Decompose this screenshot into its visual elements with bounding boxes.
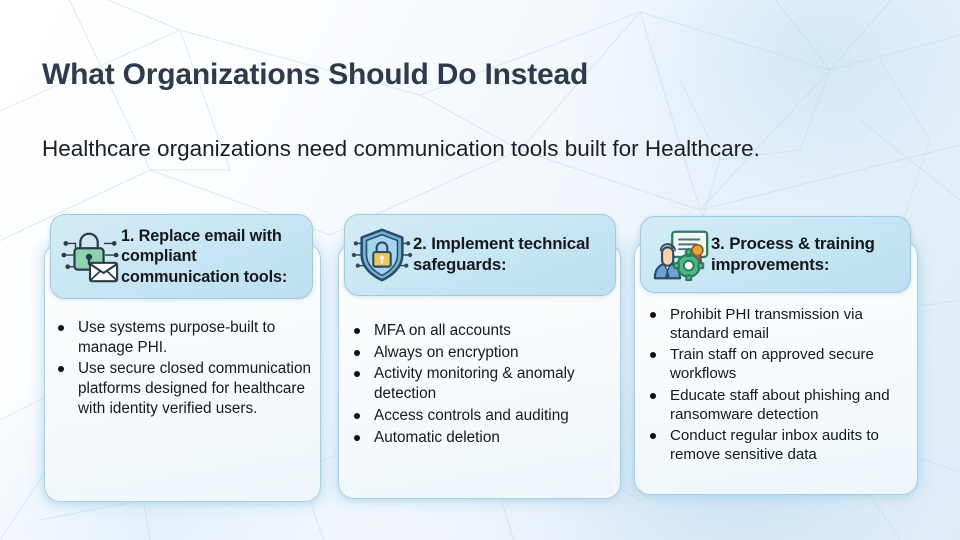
list-item: Use secure closed communication platform… [56, 359, 314, 418]
card-1-header: 1. Replace email with compliant communic… [50, 214, 313, 299]
card-1-bullet-list: Use systems purpose-built to manage PHI.… [56, 318, 314, 419]
list-item: Train staff on approved secure workflows [648, 345, 916, 383]
card-2-body: MFA on all accounts Always on encryption… [352, 321, 614, 449]
list-item: MFA on all accounts [352, 321, 614, 341]
page-subtitle: Healthcare organizations need communicat… [42, 136, 760, 162]
slide-canvas: What Organizations Should Do Instead Hea… [0, 0, 960, 540]
card-3-body: Prohibit PHI transmission via standard e… [648, 305, 916, 466]
card-3-header: 3. Process & training improvements: [640, 216, 911, 293]
list-item: Access controls and auditing [352, 406, 614, 426]
card-1-body: Use systems purpose-built to manage PHI.… [56, 318, 314, 421]
card-1-heading: 1. Replace email with compliant communic… [121, 226, 304, 287]
lock-email-icon [59, 226, 121, 288]
list-item: Always on encryption [352, 343, 614, 363]
page-title: What Organizations Should Do Instead [42, 58, 588, 92]
list-item: Activity monitoring & anomaly detection [352, 364, 614, 403]
card-2-bullet-list: MFA on all accounts Always on encryption… [352, 321, 614, 447]
shield-lock-icon [351, 224, 413, 286]
list-item: Educate staff about phishing and ransomw… [648, 386, 916, 424]
card-3-heading: 3. Process & training improvements: [711, 234, 904, 276]
list-item: Automatic deletion [352, 428, 614, 448]
person-certificate-gear-icon [649, 224, 711, 286]
list-item: Conduct regular inbox audits to remove s… [648, 426, 916, 464]
list-item: Prohibit PHI transmission via standard e… [648, 305, 916, 343]
card-3-bullet-list: Prohibit PHI transmission via standard e… [648, 305, 916, 464]
card-2-header: 2. Implement technical safeguards: [344, 214, 616, 296]
list-item: Use systems purpose-built to manage PHI. [56, 318, 314, 357]
card-2-heading: 2. Implement technical safeguards: [413, 234, 607, 276]
